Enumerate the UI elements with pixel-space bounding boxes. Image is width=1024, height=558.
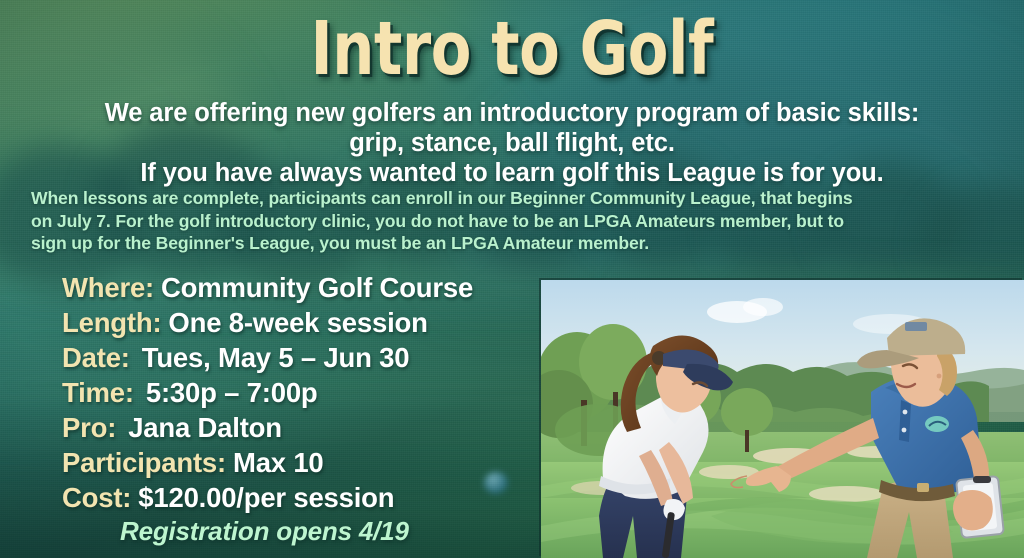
league-note-line-1: When lessons are complete, participants …: [31, 187, 1000, 210]
detail-value-cost: $120.00/per session: [138, 482, 394, 514]
cloud: [743, 298, 783, 316]
polo-button: [903, 410, 908, 415]
polo-button: [902, 428, 907, 433]
detail-label-length: Length:: [62, 307, 161, 339]
page-title: Intro to Golf: [102, 6, 921, 92]
detail-value-time: 5:30p – 7:00p: [146, 377, 318, 409]
league-note-line-3: sign up for the Beginner's League, you m…: [31, 232, 1000, 255]
watch-icon: [973, 476, 991, 483]
instructor-hand: [953, 490, 993, 530]
detail-value-date: Tues, May 5 – Jun 30: [142, 342, 410, 374]
bunker: [809, 486, 885, 502]
intro-line-2: grip, stance, ball flight, etc.: [40, 128, 984, 158]
belt-buckle-icon: [917, 483, 929, 492]
polo-placket: [899, 400, 911, 442]
golf-lesson-illustration: [541, 280, 1024, 558]
detail-label-date: Date:: [62, 342, 130, 374]
poster-content: Intro to Golf We are offering new golfer…: [0, 0, 1024, 558]
detail-label-cost: Cost:: [62, 482, 131, 514]
league-note-line-2: on July 7. For the golf introductory cli…: [31, 210, 1000, 233]
detail-row-length: Length: One 8-week session: [62, 307, 473, 342]
detail-row-participants: Participants: Max 10: [62, 447, 473, 482]
instructor-ear: [937, 374, 942, 379]
detail-label-pro: Pro:: [62, 412, 116, 444]
detail-value-where: Community Golf Course: [161, 272, 473, 304]
golf-lesson-artwork-icon: [541, 280, 1024, 558]
detail-label-time: Time:: [62, 377, 134, 409]
detail-row-pro: Pro: Jana Dalton: [62, 412, 473, 447]
detail-value-participants: Max 10: [233, 447, 324, 479]
league-note-paragraph: When lessons are complete, participants …: [31, 187, 1000, 255]
detail-row-date: Date: Tues, May 5 – Jun 30: [62, 342, 473, 377]
intro-line-3: If you have always wanted to learn golf …: [40, 158, 984, 188]
detail-row-cost: Cost: $120.00/per session: [62, 482, 473, 517]
details-list: Where: Community Golf Course Length: One…: [62, 272, 473, 517]
cap-logo-icon: [905, 322, 927, 331]
flyer-poster: Intro to Golf We are offering new golfer…: [0, 0, 1024, 558]
registration-note: Registration opens 4/19: [120, 516, 409, 547]
intro-paragraph: We are offering new golfers an introduct…: [40, 98, 984, 188]
intro-line-1: We are offering new golfers an introduct…: [40, 98, 984, 128]
detail-value-length: One 8-week session: [168, 307, 427, 339]
detail-label-participants: Participants:: [62, 447, 226, 479]
detail-label-where: Where:: [62, 272, 154, 304]
detail-row-time: Time: 5:30p – 7:00p: [62, 377, 473, 412]
detail-row-where: Where: Community Golf Course: [62, 272, 473, 307]
detail-value-pro: Jana Dalton: [128, 412, 282, 444]
